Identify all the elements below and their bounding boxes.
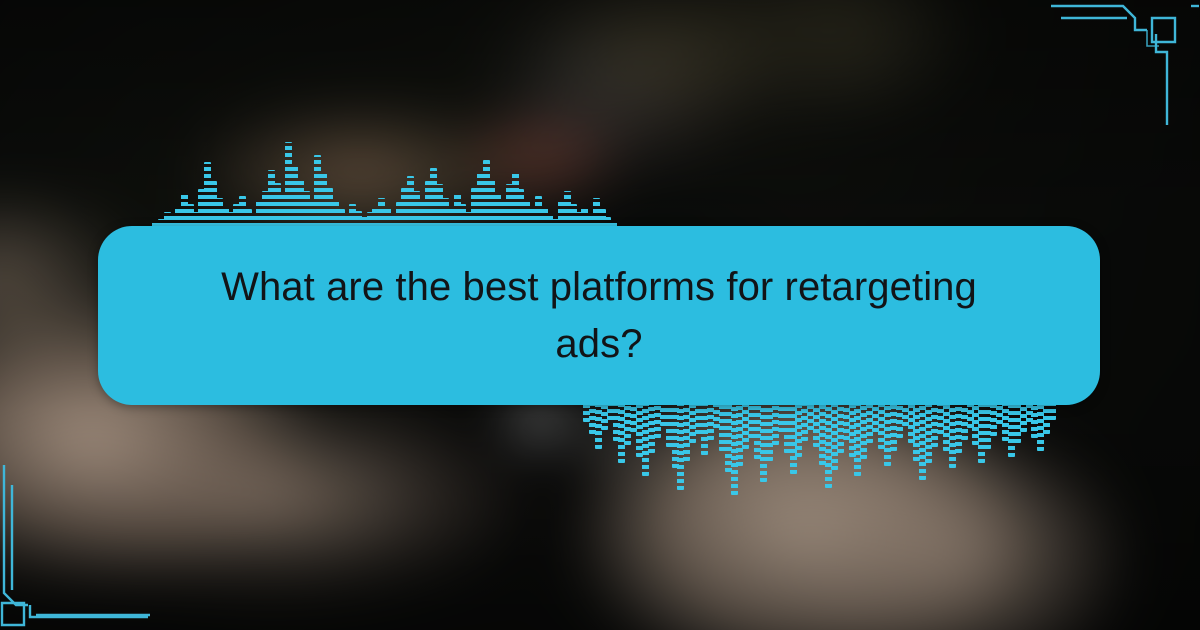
quote-text: What are the best platforms for retarget… bbox=[169, 259, 1029, 373]
quote-card-image: What are the best platforms for retarget… bbox=[0, 0, 1200, 630]
quote-card: What are the best platforms for retarget… bbox=[98, 226, 1100, 405]
